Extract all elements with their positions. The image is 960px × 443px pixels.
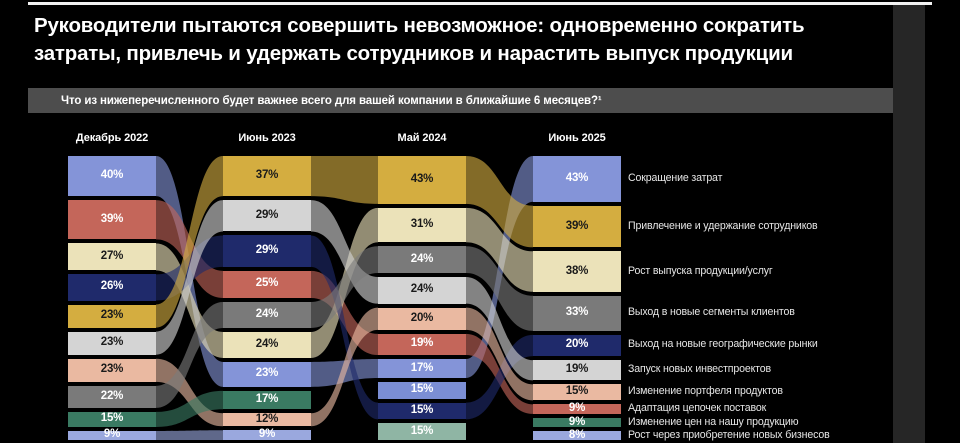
bar[interactable] (223, 413, 311, 426)
bar[interactable] (68, 274, 156, 300)
sankey-chart: Декабрь 2022Июнь 2023Май 2024Июнь 2025 4… (0, 0, 960, 443)
bar[interactable] (378, 382, 466, 399)
category-label-1: Сокращение затрат (628, 172, 722, 184)
column-header-4: Июнь 2025 (533, 132, 621, 144)
bar[interactable] (68, 431, 156, 440)
bar[interactable] (378, 423, 466, 440)
bar[interactable] (533, 206, 621, 248)
bar[interactable] (533, 418, 621, 428)
ribbon (311, 156, 378, 204)
column-header-1: Декабрь 2022 (68, 132, 156, 144)
bar[interactable] (223, 332, 311, 358)
bar[interactable] (533, 251, 621, 291)
bar[interactable] (68, 359, 156, 382)
bar[interactable] (223, 156, 311, 196)
bar[interactable] (533, 335, 621, 356)
bar[interactable] (378, 359, 466, 378)
bar[interactable] (68, 305, 156, 328)
bar[interactable] (533, 156, 621, 202)
bar[interactable] (223, 430, 311, 440)
bar[interactable] (68, 200, 156, 239)
bar[interactable] (223, 271, 311, 298)
bar[interactable] (533, 431, 621, 440)
bar[interactable] (68, 412, 156, 427)
category-label-8: Адаптация цепочек поставок (628, 402, 766, 414)
bar[interactable] (223, 362, 311, 387)
bar[interactable] (533, 404, 621, 414)
bar[interactable] (533, 296, 621, 331)
bar[interactable] (68, 332, 156, 355)
bar[interactable] (378, 277, 466, 304)
category-label-7: Изменение портфеля продуктов (628, 385, 783, 397)
category-label-2: Привлечение и удержание сотрудников (628, 220, 818, 232)
bar[interactable] (68, 386, 156, 408)
bar[interactable] (378, 208, 466, 242)
category-label-3: Рост выпуска продукции/услуг (628, 265, 773, 277)
category-label-5: Выход на новые географические рынки (628, 338, 818, 350)
column-header-3: Май 2024 (378, 132, 466, 144)
column-header-2: Июнь 2023 (223, 132, 311, 144)
bar[interactable] (68, 156, 156, 196)
bar[interactable] (223, 235, 311, 266)
bar[interactable] (378, 156, 466, 204)
bar[interactable] (533, 360, 621, 380)
bar[interactable] (533, 384, 621, 400)
bar[interactable] (223, 200, 311, 231)
slide-root: Руководители пытаются совершить невозмож… (0, 0, 960, 443)
category-label-4: Выход в новые сегменты клиентов (628, 306, 795, 318)
bar[interactable] (378, 308, 466, 330)
category-label-9: Изменение цен на нашу продукцию (628, 416, 798, 428)
ribbon (156, 430, 223, 440)
bar[interactable] (68, 243, 156, 270)
bar[interactable] (378, 334, 466, 355)
category-label-10: Рост через приобретение новых бизнесов (628, 429, 830, 441)
category-label-6: Запуск новых инвестпроектов (628, 363, 771, 375)
bar[interactable] (378, 403, 466, 420)
bar[interactable] (378, 246, 466, 273)
bar[interactable] (223, 302, 311, 328)
bar[interactable] (223, 391, 311, 409)
